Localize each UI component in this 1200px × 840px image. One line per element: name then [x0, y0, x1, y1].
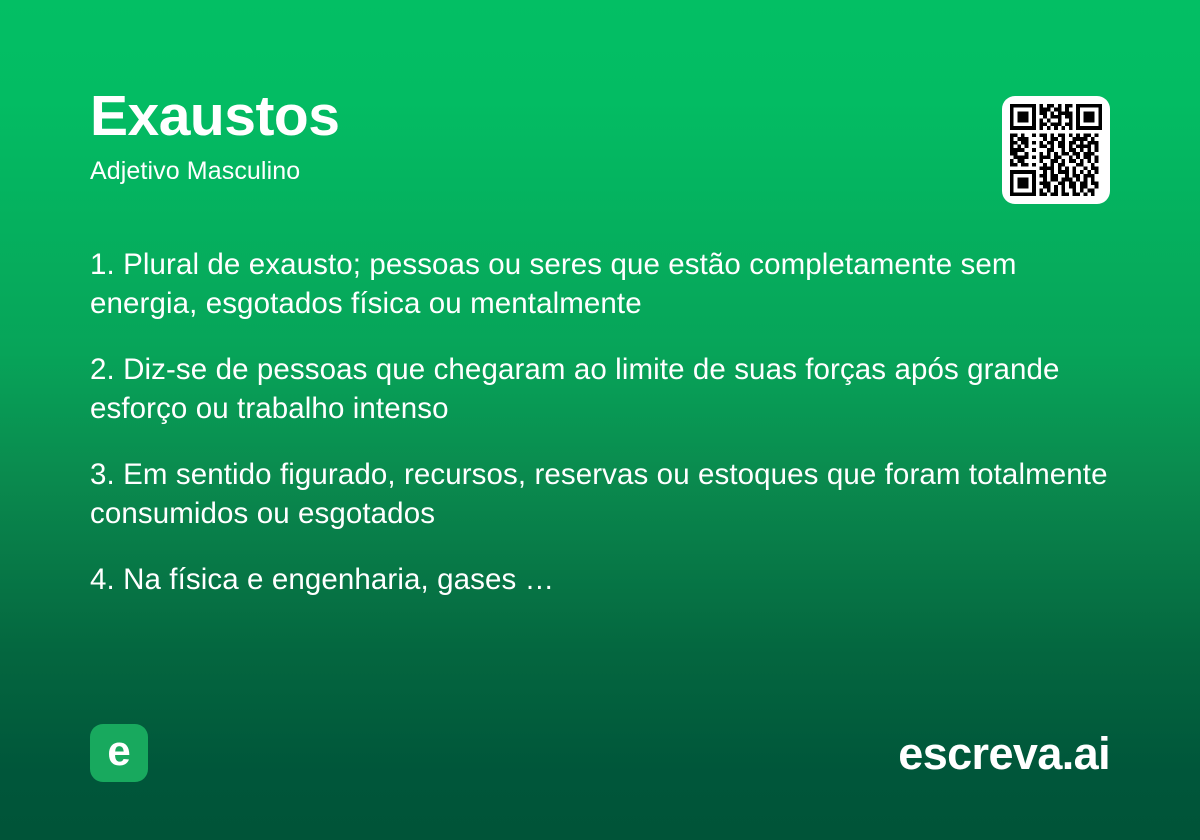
qr-code-card[interactable]: [1002, 96, 1110, 204]
dictionary-card: Exaustos Adjetivo Masculino: [0, 0, 1200, 840]
card-header: Exaustos Adjetivo Masculino: [90, 88, 1110, 208]
logo-letter: e: [107, 730, 130, 772]
word-class-label: Adjetivo Masculino: [90, 158, 1110, 186]
definition-item-3: 3. Em sentido figurado, recursos, reserv…: [90, 455, 1112, 533]
escreva-logo-icon[interactable]: e: [90, 724, 148, 782]
definition-item-4: 4. Na física e engenharia, gases …: [90, 560, 1112, 599]
definition-item-1: 1. Plural de exausto; pessoas ou seres q…: [90, 245, 1112, 323]
card-footer: e escreva.ai: [90, 724, 1110, 784]
qr-code-icon: [1010, 104, 1102, 196]
definition-item-2: 2. Diz-se de pessoas que chegaram ao lim…: [90, 350, 1112, 428]
definition-list: 1. Plural de exausto; pessoas ou seres q…: [90, 245, 1112, 599]
page-title: Exaustos: [90, 88, 1110, 145]
brand-wordmark: escreva.ai: [898, 726, 1110, 782]
